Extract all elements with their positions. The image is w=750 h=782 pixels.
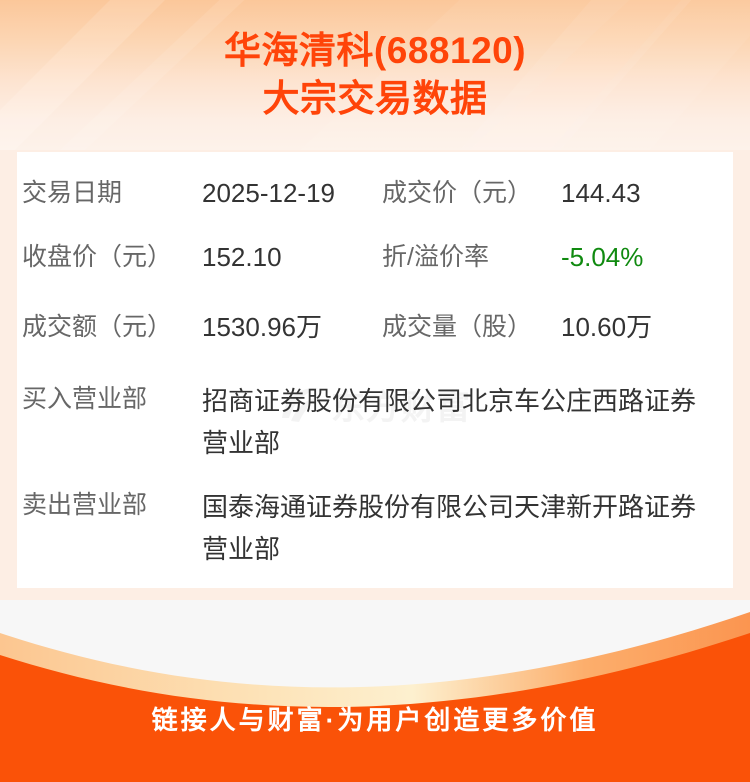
value-trade-date: 2025-12-19 — [202, 174, 382, 212]
poster-footer: 链接人与财富·为用户创造更多价值 — [0, 600, 750, 782]
table-row-trade-date: 交易日期 2025-12-19 成交价（元） 144.43 — [17, 152, 733, 224]
dazong-trade-poster: 华海清科(688120) 大宗交易数据 东方财富 交易日期 2025-12-19… — [0, 0, 750, 782]
value-turnover-volume: 10.60万 — [561, 308, 731, 346]
page-title-line-1: 华海清科(688120) — [224, 28, 526, 74]
table-row-close-price: 收盘价（元） 152.10 折/溢价率 -5.04% — [17, 224, 733, 294]
page-title-line-2: 大宗交易数据 — [263, 76, 488, 122]
value-deal-price: 144.43 — [561, 174, 731, 212]
value-sell-branch: 国泰海通证券股份有限公司天津新开路证券营业部 — [202, 486, 712, 570]
label-deal-price: 成交价（元） — [382, 174, 561, 212]
footer-wave-graphic — [0, 600, 750, 782]
value-premium-rate: -5.04% — [561, 238, 731, 276]
value-turnover-amount: 1530.96万 — [202, 308, 382, 346]
value-close-price: 152.10 — [202, 238, 382, 276]
trade-data-card: 东方财富 交易日期 2025-12-19 成交价（元） 144.43 收盘价（元… — [17, 152, 733, 588]
label-premium-rate: 折/溢价率 — [382, 238, 561, 276]
poster-header: 华海清科(688120) 大宗交易数据 — [0, 0, 750, 150]
label-close-price: 收盘价（元） — [17, 238, 202, 276]
table-row-buy-branch: 买入营业部 招商证券股份有限公司北京车公庄西路证券营业部 — [17, 364, 733, 472]
table-row-turnover: 成交额（元） 1530.96万 成交量（股） 10.60万 — [17, 294, 733, 364]
value-buy-branch: 招商证券股份有限公司北京车公庄西路证券营业部 — [202, 380, 712, 464]
label-sell-branch: 卖出营业部 — [17, 486, 202, 524]
label-buy-branch: 买入营业部 — [17, 380, 202, 418]
label-turnover-volume: 成交量（股） — [382, 308, 561, 346]
table-row-sell-branch: 卖出营业部 国泰海通证券股份有限公司天津新开路证券营业部 — [17, 472, 733, 580]
label-turnover-amount: 成交额（元） — [17, 308, 202, 346]
trade-data-rows: 交易日期 2025-12-19 成交价（元） 144.43 收盘价（元） 152… — [17, 152, 733, 580]
page-title: 华海清科(688120) 大宗交易数据 — [0, 0, 750, 150]
label-trade-date: 交易日期 — [17, 174, 202, 212]
footer-slogan: 链接人与财富·为用户创造更多价值 — [0, 700, 750, 737]
